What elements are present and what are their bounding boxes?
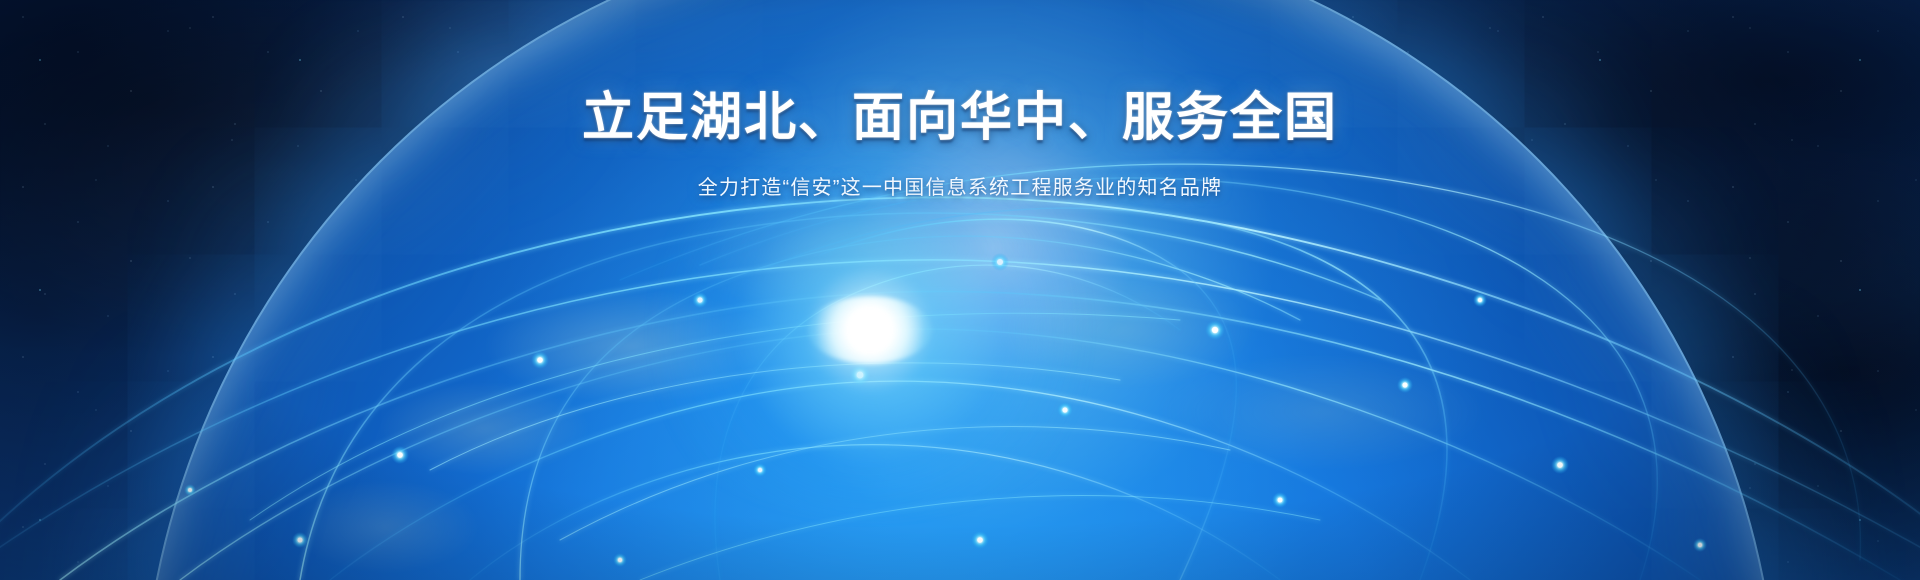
center-glow [870,330,872,332]
hero-banner: 立足湖北、面向华中、服务全国 全力打造“信安”这一中国信息系统工程服务业的知名品… [0,0,1920,580]
page-subtitle: 全力打造“信安”这一中国信息系统工程服务业的知名品牌 [0,171,1920,200]
banner-copy: 立足湖北、面向华中、服务全国 全力打造“信安”这一中国信息系统工程服务业的知名品… [0,88,1920,200]
page-title: 立足湖北、面向华中、服务全国 [0,88,1920,149]
